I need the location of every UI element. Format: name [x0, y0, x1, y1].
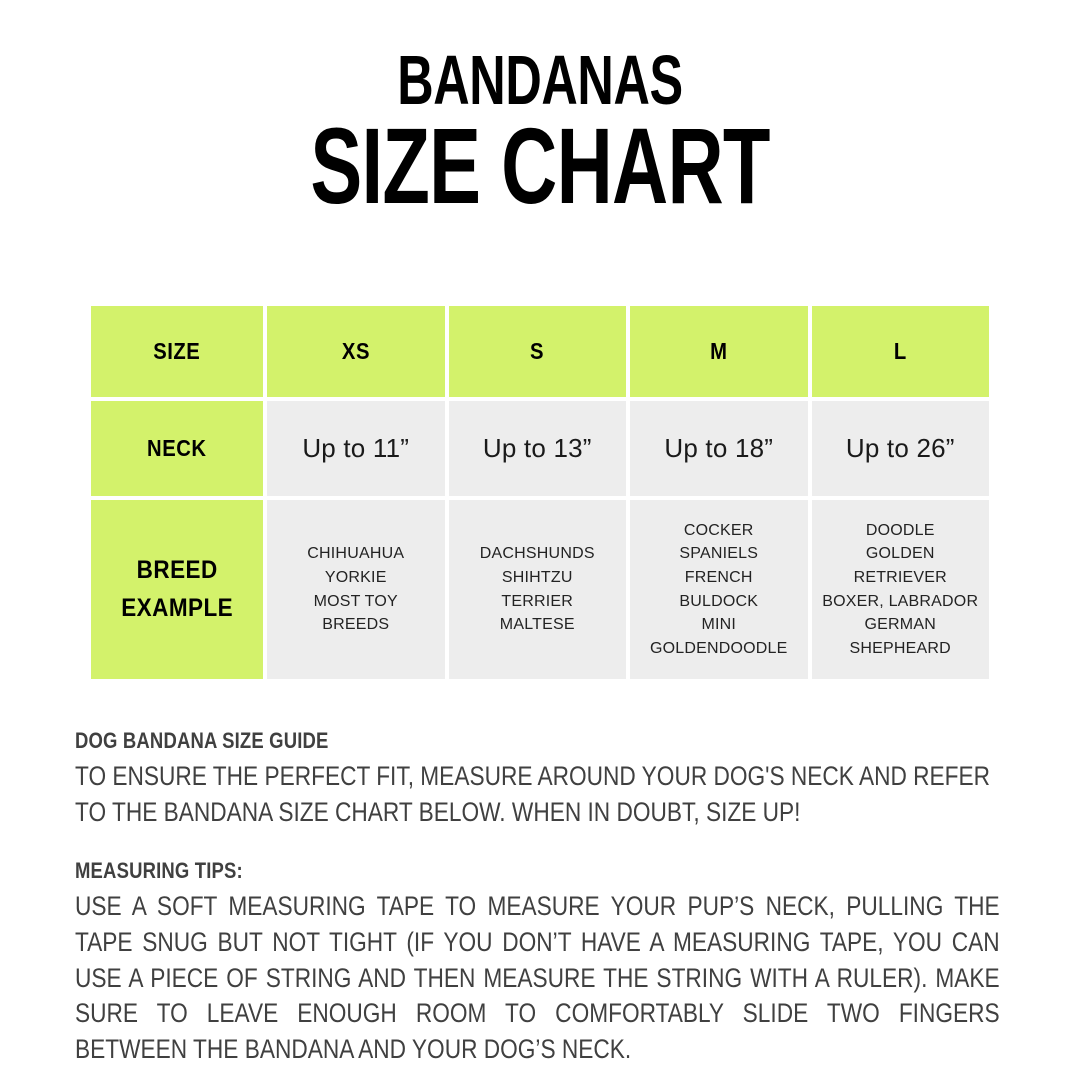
header-cell-size: SIZE — [91, 306, 263, 397]
tips-heading: MEASURING TIPS: — [75, 858, 852, 884]
guide-heading: DOG BANDANA SIZE GUIDE — [75, 728, 852, 754]
breed-value-l: DOODLEGOLDEN RETRIEVERBOXER, LABRADORGER… — [812, 500, 990, 679]
neck-value-m-text: Up to 18” — [664, 433, 773, 464]
breed-value-xs: CHIHUAHUAYORKIEMOST TOYBREEDS — [267, 500, 445, 679]
breed-label-line1: BREED — [136, 556, 217, 584]
header-cell-m: M — [630, 306, 808, 397]
title-line-bandanas: BANDANAS — [151, 48, 929, 112]
table-row-breed-example: BREED EXAMPLE CHIHUAHUAYORKIEMOST TOYBRE… — [91, 500, 989, 679]
header-label-s: S — [530, 338, 544, 365]
neck-value-xs: Up to 11” — [267, 401, 445, 496]
header-cell-s: S — [449, 306, 627, 397]
neck-value-l: Up to 26” — [812, 401, 990, 496]
breed-value-l-text: DOODLEGOLDEN RETRIEVERBOXER, LABRADORGER… — [812, 519, 990, 660]
breed-value-xs-text: CHIHUAHUAYORKIEMOST TOYBREEDS — [301, 542, 410, 636]
breed-value-s: DACHSHUNDSSHIHTZUTERRIERMALTESE — [449, 500, 627, 679]
guide-body: TO ENSURE THE PERFECT FIT, MEASURE AROUN… — [75, 759, 1000, 830]
header-label-l: L — [894, 338, 907, 365]
copy-spacer — [75, 830, 1000, 858]
neck-value-l-text: Up to 26” — [846, 433, 955, 464]
neck-label-text: NECK — [147, 435, 206, 462]
neck-value-s-text: Up to 13” — [483, 433, 592, 464]
table-header-row: SIZE XS S M L — [91, 306, 989, 397]
neck-value-m: Up to 18” — [630, 401, 808, 496]
header-label-xs: XS — [342, 338, 370, 365]
title-line-size-chart: SIZE CHART — [151, 116, 929, 215]
neck-value-s: Up to 13” — [449, 401, 627, 496]
header-cell-l: L — [812, 306, 990, 397]
header-label-size: SIZE — [153, 338, 200, 365]
header-label-m: M — [710, 338, 727, 365]
breed-value-s-text: DACHSHUNDSSHIHTZUTERRIERMALTESE — [474, 542, 601, 636]
size-guide-copy: DOG BANDANA SIZE GUIDE TO ENSURE THE PER… — [75, 728, 1000, 1067]
row-label-breed-example: BREED EXAMPLE — [91, 500, 263, 679]
neck-value-xs-text: Up to 11” — [302, 433, 409, 464]
breed-label-line2: EXAMPLE — [121, 594, 233, 622]
page-title: BANDANAS SIZE CHART — [0, 0, 1080, 216]
breed-value-m: COCKERSPANIELSFRENCHBULDOCKMINIGOLDENDOO… — [630, 500, 808, 679]
breed-value-m-text: COCKERSPANIELSFRENCHBULDOCKMINIGOLDENDOO… — [644, 519, 794, 660]
header-cell-xs: XS — [267, 306, 445, 397]
table-row-neck: NECK Up to 11” Up to 13” Up to 18” Up to… — [91, 401, 989, 496]
tips-body: USE A SOFT MEASURING TAPE TO MEASURE YOU… — [75, 889, 1000, 1067]
row-label-neck: NECK — [91, 401, 263, 496]
size-chart-table: SIZE XS S M L NECK Up to 11” Up to 13” U… — [91, 306, 989, 679]
breed-label-text: BREED EXAMPLE — [121, 552, 233, 627]
